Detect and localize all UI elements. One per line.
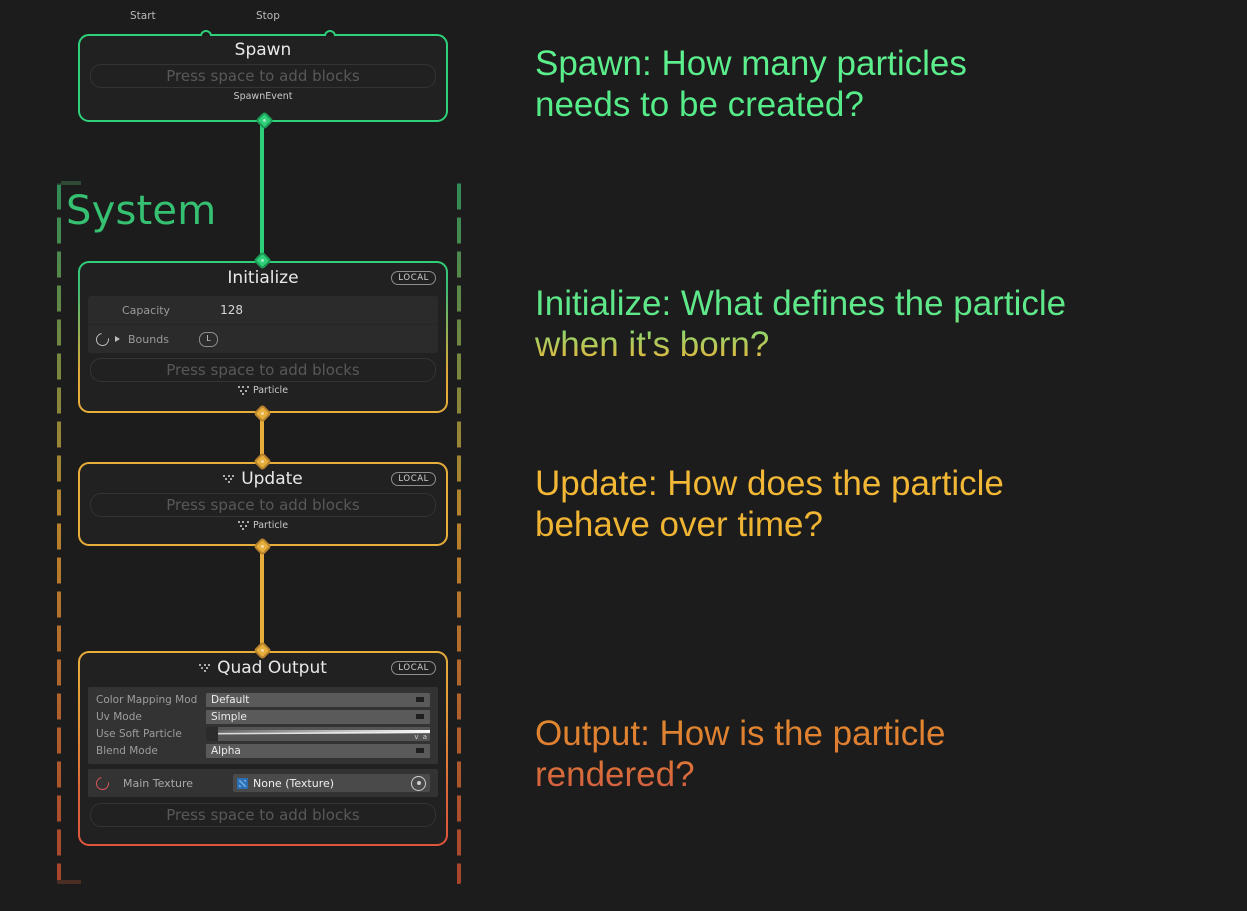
curve-field-gutter (206, 727, 218, 741)
initialize-add-blocks-hint: Press space to add blocks (166, 361, 359, 379)
particle-icon (199, 664, 210, 673)
node-spawn-title: Spawn (80, 36, 446, 64)
start-port-label: Start (130, 10, 156, 22)
particle-icon (223, 475, 234, 484)
update-add-blocks-hint: Press space to add blocks (166, 496, 359, 514)
initialize-properties: Capacity 128 Bounds L (88, 296, 438, 353)
color-mapping-mode-value: Default (211, 694, 249, 706)
node-initialize[interactable]: Initialize LOCAL Capacity 128 Bounds L P… (78, 261, 448, 413)
node-update[interactable]: Update LOCAL Press space to add blocks P… (78, 462, 448, 546)
node-spawn-body: Spawn Press space to add blocks SpawnEve… (80, 36, 446, 120)
update-flow-output[interactable]: Particle (80, 517, 446, 531)
blend-mode-dropdown[interactable]: Alpha (206, 744, 430, 758)
update-add-blocks-bar[interactable]: Press space to add blocks (90, 493, 436, 517)
use-soft-particle-label: Use Soft Particle (96, 728, 206, 740)
particle-icon (238, 386, 249, 395)
node-initialize-body: Initialize LOCAL Capacity 128 Bounds L P… (80, 263, 446, 411)
use-soft-particle-curve-field[interactable]: v a (206, 727, 430, 741)
uv-mode-value: Simple (211, 711, 247, 723)
spawn-event-label: SpawnEvent (234, 91, 293, 102)
update-particle-label: Particle (253, 520, 288, 531)
blend-mode-label: Blend Mode (96, 745, 206, 757)
initialize-local-badge: LOCAL (391, 271, 436, 285)
capacity-label: Capacity (94, 304, 170, 317)
main-texture-value: None (Texture) (253, 777, 334, 790)
main-texture-label: Main Texture (109, 777, 233, 790)
particle-icon (238, 521, 249, 530)
curve-preview (218, 727, 430, 741)
main-texture-object-field[interactable]: None (Texture) (233, 774, 430, 792)
uv-mode-label: Uv Mode (96, 711, 206, 723)
annotation-output: Output: How is the particle rendered? (535, 714, 945, 795)
node-quad-output[interactable]: Quad Output LOCAL Color Mapping Mod Defa… (78, 651, 448, 846)
setting-row-uv-mode[interactable]: Uv Mode Simple (88, 708, 438, 725)
chevron-down-icon (416, 697, 424, 702)
quad-output-title-text: Quad Output (217, 658, 327, 678)
quad-output-add-blocks-bar[interactable]: Press space to add blocks (90, 803, 436, 827)
initialize-add-blocks-bar[interactable]: Press space to add blocks (90, 358, 436, 382)
spawn-add-blocks-bar[interactable]: Press space to add blocks (90, 64, 436, 88)
initialize-flow-output[interactable]: Particle (80, 382, 446, 396)
setting-row-blend-mode[interactable]: Blend Mode Alpha (88, 742, 438, 759)
color-mapping-mode-label: Color Mapping Mod (96, 694, 206, 706)
annotation-initialize: Initialize: What defines the particle wh… (535, 284, 1066, 365)
setting-row-color-mapping-mode[interactable]: Color Mapping Mod Default (88, 691, 438, 708)
property-row-main-texture[interactable]: Main Texture None (Texture) (88, 769, 438, 797)
node-spawn[interactable]: Start Stop Spawn Press space to add bloc… (78, 34, 448, 122)
edge-update-to-quadoutput (260, 542, 264, 655)
stop-port-label: Stop (256, 10, 280, 22)
blend-mode-value: Alpha (211, 745, 241, 757)
update-local-badge: LOCAL (391, 472, 436, 486)
property-row-bounds[interactable]: Bounds L (88, 325, 438, 353)
object-picker-icon[interactable] (411, 776, 426, 791)
chevron-down-icon (416, 748, 424, 753)
node-update-body: Update LOCAL Press space to add blocks P… (80, 464, 446, 544)
initialize-particle-label: Particle (253, 385, 288, 396)
node-quad-output-body: Quad Output LOCAL Color Mapping Mod Defa… (80, 653, 446, 844)
chevron-down-icon (416, 714, 424, 719)
vfx-graph-canvas[interactable]: System Start Stop Spawn Press space to a… (0, 0, 1247, 911)
bounds-space-badge[interactable]: L (199, 332, 218, 347)
chevron-right-icon[interactable] (115, 336, 120, 342)
uv-mode-dropdown[interactable]: Simple (206, 710, 430, 724)
annotation-spawn: Spawn: How many particles needs to be cr… (535, 44, 967, 125)
texture-thumbnail-icon (237, 778, 248, 789)
spawn-add-blocks-hint: Press space to add blocks (166, 67, 359, 85)
reset-icon[interactable] (93, 330, 111, 348)
system-group-label: System (66, 191, 216, 231)
setting-row-use-soft-particle[interactable]: Use Soft Particle v a (88, 725, 438, 742)
quad-output-local-badge: LOCAL (391, 661, 436, 675)
spawn-flow-output[interactable]: SpawnEvent (80, 88, 446, 102)
capacity-value[interactable]: 128 (170, 303, 243, 317)
annotation-update: Update: How does the particle behave ove… (535, 464, 1004, 545)
edge-spawn-to-initialize (260, 122, 264, 266)
quad-output-add-blocks-hint: Press space to add blocks (166, 806, 359, 824)
property-row-capacity[interactable]: Capacity 128 (88, 296, 438, 325)
bounds-label: Bounds (126, 333, 169, 346)
quad-output-settings: Color Mapping Mod Default Uv Mode Simple… (88, 687, 438, 764)
color-mapping-mode-dropdown[interactable]: Default (206, 693, 430, 707)
curve-axis-marks: v a (414, 734, 428, 741)
update-title-text: Update (241, 469, 303, 489)
